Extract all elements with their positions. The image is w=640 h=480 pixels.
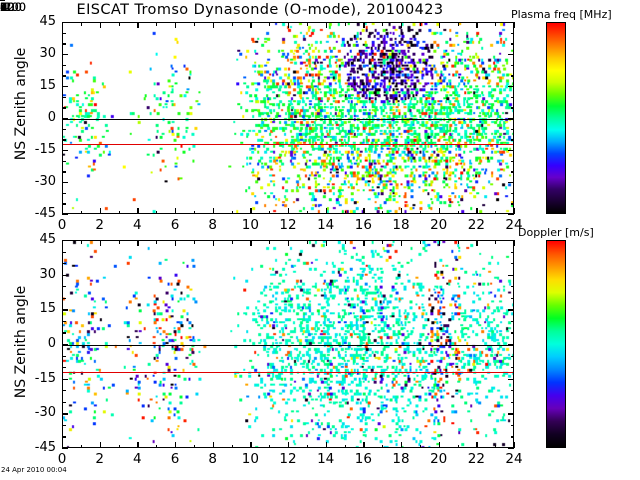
x-axis-tick-mark [439,22,440,28]
x-axis-tick-mark [326,240,327,246]
y-axis-minor-tick [62,356,66,357]
x-axis-minor-tick [156,22,157,26]
doppler-panel [62,240,514,448]
y-axis-minor-tick [62,402,66,403]
x-axis-tick-mark [326,208,327,214]
x-axis-minor-tick [495,22,496,26]
y-axis-tick-mark [508,118,514,119]
y-axis-tick-mark [508,309,514,310]
x-axis-tick-mark [100,22,101,28]
y-axis-tick-mark [508,182,514,183]
x-axis-minor-tick [232,240,233,244]
x-axis-tick-mark [250,22,251,28]
y-axis-tick-mark [508,54,514,55]
x-axis-tick-mark [401,22,402,28]
x-axis-minor-tick [420,22,421,26]
y-axis-tick-label: 0 [16,336,56,351]
y-axis-minor-tick [62,390,66,391]
y-axis-minor-tick [62,286,66,287]
y-axis-tick-label: -30 [16,405,56,420]
y-axis-minor-tick [62,321,66,322]
y-axis-minor-tick [511,193,515,194]
x-axis-tick-mark [62,442,63,448]
x-axis-minor-tick [382,445,383,449]
y-axis-tick-mark [62,118,68,119]
x-axis-minor-tick [194,240,195,244]
x-axis-tick-label: 16 [348,217,378,233]
x-axis-minor-tick [420,211,421,215]
x-axis-minor-tick [458,22,459,26]
colorbar-tick-mark [0,0,5,1]
x-axis-tick-mark [137,22,138,28]
y-axis-minor-tick [511,252,515,253]
x-axis-minor-tick [156,240,157,244]
y-axis-tick-mark [508,448,514,449]
x-axis-tick-mark [213,442,214,448]
y-axis-tick-mark [62,379,68,380]
x-axis-tick-mark [514,22,515,28]
x-axis-minor-tick [307,240,308,244]
x-axis-minor-tick [345,240,346,244]
y-axis-tick-mark [508,379,514,380]
x-axis-tick-mark [363,208,364,214]
x-axis-tick-label: 6 [160,451,190,467]
x-axis-minor-tick [307,22,308,26]
x-axis-minor-tick [458,445,459,449]
y-axis-tick-label: 30 [16,46,56,61]
y-axis-tick-label: -30 [16,174,56,189]
y-axis-tick-mark [508,86,514,87]
x-axis-minor-tick [194,22,195,26]
y-axis-minor-tick [511,367,515,368]
x-axis-tick-label: 14 [311,217,341,233]
x-axis-minor-tick [495,240,496,244]
x-axis-minor-tick [495,211,496,215]
y-axis-minor-tick [62,263,66,264]
x-axis-tick-mark [439,240,440,246]
x-axis-minor-tick [382,211,383,215]
page-title: EISCAT Tromso Dynasonde (O-mode), 201004… [0,2,520,18]
x-axis-minor-tick [81,22,82,26]
y-axis-minor-tick [511,263,515,264]
y-axis-minor-tick [62,161,66,162]
y-axis-minor-tick [511,436,515,437]
y-axis-minor-tick [62,97,66,98]
y-axis-tick-mark [62,150,68,151]
plasma-frequency-plot-area [63,23,513,213]
x-axis-tick-mark [476,240,477,246]
x-axis-minor-tick [458,211,459,215]
colorbar-plasma-freq [546,22,566,214]
y-axis-minor-tick [62,75,66,76]
y-axis-tick-mark [62,54,68,55]
y-axis-minor-tick [511,139,515,140]
x-axis-minor-tick [345,445,346,449]
x-axis-minor-tick [119,22,120,26]
x-axis-minor-tick [269,240,270,244]
x-axis-tick-mark [175,240,176,246]
y-axis-tick-label: 15 [16,301,56,316]
doppler-plot-area [63,241,513,447]
generation-timestamp: 24 Apr 2010 00:04 [1,466,67,474]
x-axis-minor-tick [232,211,233,215]
y-axis-minor-tick [511,171,515,172]
x-axis-tick-mark [62,240,63,246]
x-axis-tick-label: 16 [348,451,378,467]
x-axis-tick-label: 4 [122,217,152,233]
x-axis-tick-mark [213,208,214,214]
y-axis-tick-label: 30 [16,267,56,282]
x-axis-tick-mark [514,240,515,246]
x-axis-minor-tick [269,445,270,449]
x-axis-minor-tick [420,445,421,449]
x-axis-minor-tick [495,445,496,449]
x-axis-tick-label: 4 [122,451,152,467]
y-axis-minor-tick [511,298,515,299]
y-axis-minor-tick [62,139,66,140]
x-axis-minor-tick [119,211,120,215]
y-axis-tick-label: -15 [16,371,56,386]
x-axis-tick-mark [288,240,289,246]
y-axis-tick-mark [62,86,68,87]
y-axis-minor-tick [511,425,515,426]
x-axis-tick-label: 20 [424,451,454,467]
x-axis-tick-label: 0 [47,217,77,233]
x-axis-minor-tick [194,211,195,215]
x-axis-tick-mark [476,208,477,214]
y-axis-minor-tick [511,332,515,333]
x-axis-minor-tick [307,211,308,215]
x-axis-tick-mark [514,208,515,214]
x-axis-tick-mark [213,240,214,246]
x-axis-minor-tick [119,240,120,244]
x-axis-tick-mark [439,442,440,448]
x-axis-tick-mark [137,208,138,214]
x-axis-tick-mark [100,240,101,246]
x-axis-tick-label: 0 [47,451,77,467]
y-axis-tick-mark [62,448,68,449]
x-axis-tick-label: 22 [461,217,491,233]
x-axis-tick-mark [401,208,402,214]
y-axis-tick-mark [508,214,514,215]
y-axis-minor-tick [511,43,515,44]
y-axis-minor-tick [511,65,515,66]
x-axis-tick-mark [100,208,101,214]
y-axis-minor-tick [62,107,66,108]
y-axis-minor-tick [62,436,66,437]
x-axis-minor-tick [194,445,195,449]
y-axis-tick-mark [62,344,68,345]
x-axis-tick-mark [250,442,251,448]
y-axis-tick-label: 15 [16,78,56,93]
x-axis-tick-label: 6 [160,217,190,233]
x-axis-tick-mark [250,240,251,246]
y-axis-minor-tick [62,367,66,368]
x-axis-tick-mark [363,442,364,448]
x-axis-tick-mark [213,22,214,28]
x-axis-tick-mark [62,22,63,28]
x-axis-tick-label: 14 [311,451,341,467]
x-axis-minor-tick [420,240,421,244]
plasma-frequency-panel [62,22,514,214]
y-axis-tick-mark [62,275,68,276]
x-axis-tick-mark [137,442,138,448]
x-axis-minor-tick [382,240,383,244]
y-axis-minor-tick [62,203,66,204]
y-axis-minor-tick [62,298,66,299]
x-axis-tick-label: 12 [273,451,303,467]
colorbar-title-doppler: Doppler [m/s] [518,226,594,239]
x-axis-minor-tick [119,445,120,449]
colorbar-title-plasma-freq: Plasma freq [MHz] [511,8,612,21]
x-axis-tick-label: 12 [273,217,303,233]
x-axis-tick-label: 24 [499,451,529,467]
x-axis-minor-tick [156,211,157,215]
x-axis-tick-label: 2 [85,217,115,233]
x-axis-tick-mark [137,240,138,246]
x-axis-minor-tick [345,22,346,26]
y-axis-tick-mark [62,214,68,215]
x-axis-tick-label: 10 [235,451,265,467]
x-axis-tick-mark [476,442,477,448]
y-axis-minor-tick [62,171,66,172]
y-axis-minor-tick [62,425,66,426]
y-axis-minor-tick [511,286,515,287]
y-axis-minor-tick [62,129,66,130]
x-axis-tick-mark [439,208,440,214]
x-axis-tick-mark [326,22,327,28]
x-axis-tick-mark [363,240,364,246]
y-axis-minor-tick [511,402,515,403]
x-axis-minor-tick [345,211,346,215]
x-axis-minor-tick [81,240,82,244]
x-axis-tick-label: 8 [198,217,228,233]
x-axis-tick-label: 22 [461,451,491,467]
x-axis-tick-mark [288,442,289,448]
x-axis-tick-mark [514,442,515,448]
y-axis-tick-mark [62,182,68,183]
x-axis-tick-label: 2 [85,451,115,467]
x-axis-tick-mark [175,22,176,28]
y-axis-tick-label: 45 [16,14,56,29]
y-axis-minor-tick [511,129,515,130]
y-axis-tick-label: 0 [16,110,56,125]
x-axis-tick-mark [288,22,289,28]
y-axis-minor-tick [511,356,515,357]
x-axis-minor-tick [458,240,459,244]
x-axis-minor-tick [382,22,383,26]
x-axis-tick-mark [288,208,289,214]
x-axis-minor-tick [269,211,270,215]
colorbar-doppler [546,240,566,448]
y-axis-minor-tick [511,161,515,162]
x-axis-tick-mark [401,240,402,246]
y-axis-tick-mark [508,344,514,345]
y-axis-minor-tick [62,193,66,194]
x-axis-tick-mark [250,208,251,214]
y-axis-minor-tick [62,332,66,333]
y-axis-minor-tick [511,75,515,76]
x-axis-tick-label: 10 [235,217,265,233]
y-axis-minor-tick [62,65,66,66]
y-axis-tick-mark [508,413,514,414]
y-axis-minor-tick [511,107,515,108]
x-axis-tick-mark [62,208,63,214]
x-axis-tick-mark [401,442,402,448]
y-axis-minor-tick [511,321,515,322]
y-axis-minor-tick [62,252,66,253]
y-axis-minor-tick [511,97,515,98]
x-axis-minor-tick [269,22,270,26]
x-axis-minor-tick [81,211,82,215]
y-axis-minor-tick [62,33,66,34]
y-axis-minor-tick [511,33,515,34]
x-axis-minor-tick [156,445,157,449]
x-axis-tick-mark [100,442,101,448]
x-axis-tick-mark [363,22,364,28]
x-axis-minor-tick [307,445,308,449]
colorbar-tick-label: -200 [0,0,26,14]
y-axis-minor-tick [511,390,515,391]
y-axis-tick-mark [508,150,514,151]
y-axis-minor-tick [62,43,66,44]
y-axis-tick-label: -15 [16,142,56,157]
x-axis-tick-mark [476,22,477,28]
y-axis-tick-mark [62,413,68,414]
x-axis-tick-mark [175,208,176,214]
x-axis-minor-tick [232,22,233,26]
x-axis-tick-label: 8 [198,451,228,467]
x-axis-minor-tick [81,445,82,449]
x-axis-tick-label: 18 [386,217,416,233]
x-axis-tick-label: 18 [386,451,416,467]
x-axis-minor-tick [232,445,233,449]
x-axis-tick-label: 20 [424,217,454,233]
x-axis-tick-mark [175,442,176,448]
x-axis-tick-mark [326,442,327,448]
y-axis-tick-mark [508,275,514,276]
y-axis-tick-label: 45 [16,232,56,247]
y-axis-minor-tick [511,203,515,204]
y-axis-tick-mark [62,309,68,310]
